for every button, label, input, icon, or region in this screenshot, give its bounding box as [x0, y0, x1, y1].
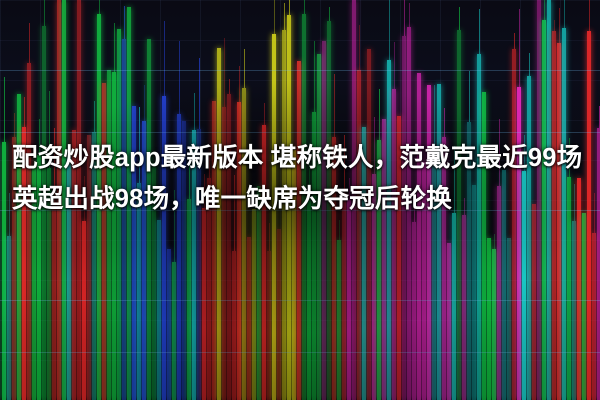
headline-text: 配资炒股app最新版本 堪称铁人，范戴克最近99场英超出战98场，唯一缺席为夺冠…	[0, 138, 600, 220]
news-thumbnail: 配资炒股app最新版本 堪称铁人，范戴克最近99场英超出战98场，唯一缺席为夺冠…	[0, 0, 600, 400]
